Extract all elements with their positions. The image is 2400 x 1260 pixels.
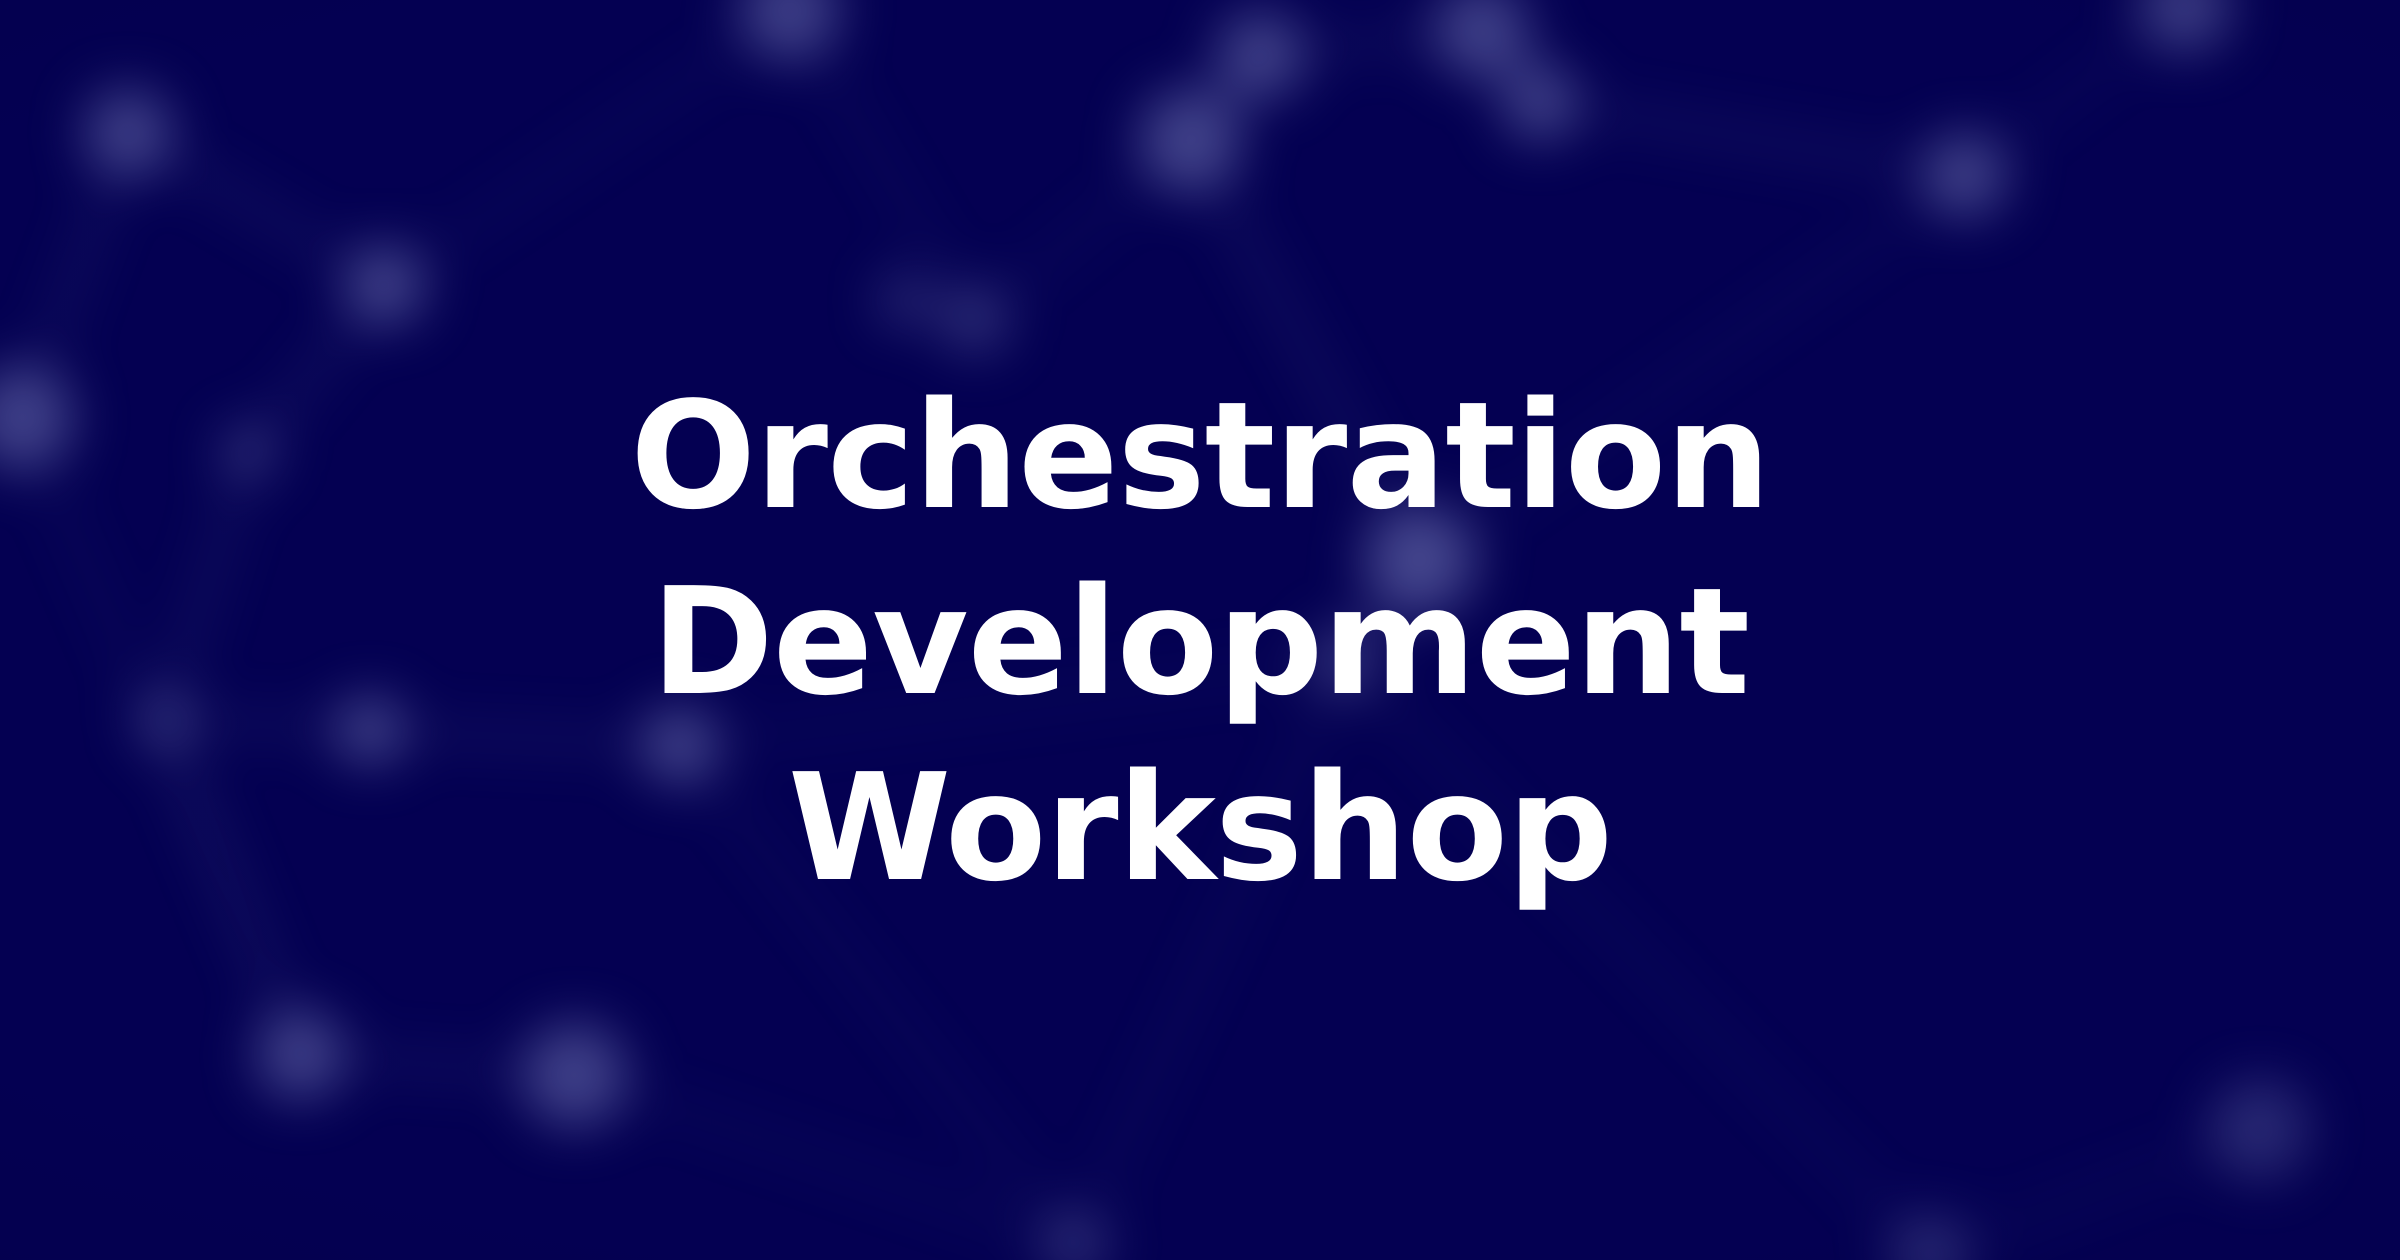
title-line-3: Workshop [788,735,1612,921]
title-line-1: Orchestration [630,363,1770,549]
title-slide: Orchestration Development Workshop [0,0,2400,1260]
page-title: Orchestration Development Workshop [0,0,2400,1260]
title-line-2: Development [651,549,1749,735]
